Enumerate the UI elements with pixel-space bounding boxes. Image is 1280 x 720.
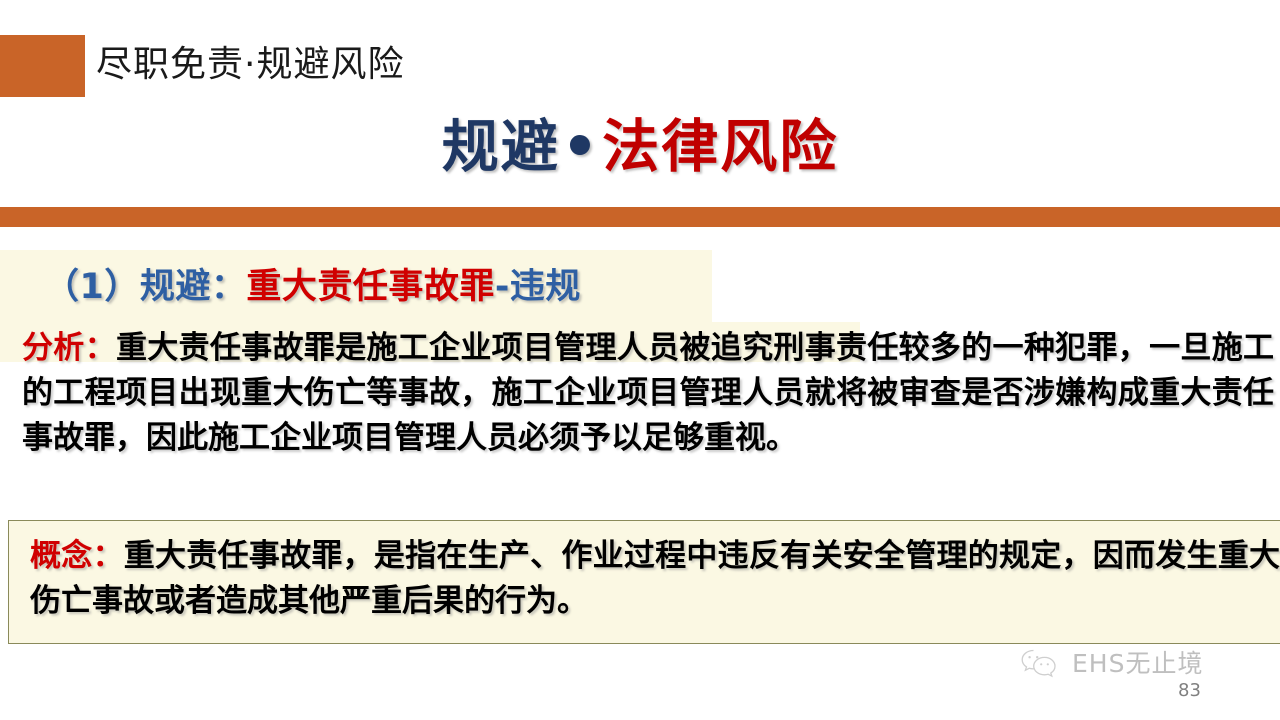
page-number: 83	[1178, 680, 1201, 702]
page-title-separator: •	[560, 114, 602, 180]
watermark: EHS无止境	[1020, 648, 1203, 680]
analysis-label: 分析	[22, 330, 85, 366]
subtitle-suffix: -违规	[495, 267, 581, 307]
header-title: 尽职免责·规避风险	[96, 38, 404, 92]
subtitle: （1）规避：重大责任事故罪-违规	[44, 263, 581, 311]
concept-colon: ：	[93, 538, 124, 574]
concept-paragraph: 概念：重大责任事故罪，是指在生产、作业过程中违反有关安全管理的规定，因而发生重大…	[30, 534, 1280, 624]
title-divider-bar	[0, 207, 1280, 227]
concept-label: 概念	[30, 538, 93, 574]
page-title-part-blue: 规避	[442, 114, 560, 180]
page-title: 规避•法律风险	[0, 104, 1280, 190]
analysis-colon: ：	[85, 330, 116, 366]
page-title-part-red: 法律风险	[602, 114, 838, 180]
watermark-label: EHS无止境	[1072, 649, 1203, 679]
analysis-body: 重大责任事故罪是施工企业项目管理人员被追究刑事责任较多的一种犯罪，一旦施工的工程…	[22, 330, 1274, 456]
subtitle-prefix: （1）规避：	[44, 267, 246, 307]
slide-header: 尽职免责·规避风险	[0, 0, 1280, 110]
concept-body: 重大责任事故罪，是指在生产、作业过程中违反有关安全管理的规定，因而发生重大伤亡事…	[30, 538, 1280, 619]
analysis-paragraph: 分析：重大责任事故罪是施工企业项目管理人员被追究刑事责任较多的一种犯罪，一旦施工…	[22, 326, 1274, 461]
header-accent-marker	[0, 35, 85, 97]
subtitle-highlight: 重大责任事故罪	[246, 267, 495, 307]
wechat-icon	[1020, 648, 1064, 680]
